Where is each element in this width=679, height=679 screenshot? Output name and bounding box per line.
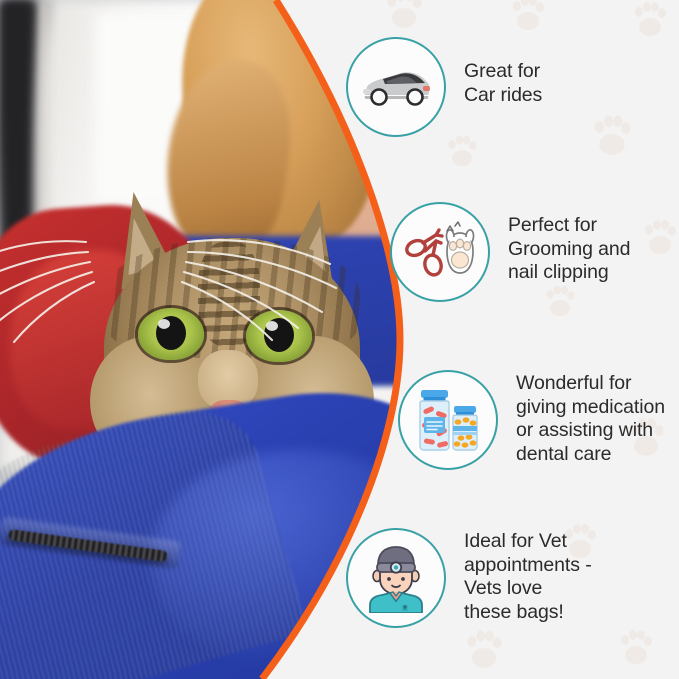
feature-item-grooming[interactable]: Perfect for Grooming and nail clipping [390,202,630,302]
feature-icon-circle [346,37,446,137]
feature-item-car-rides[interactable]: Great for Car rides [346,37,542,137]
medicine-bottles-icon [411,386,485,454]
feature-icon-circle [398,370,498,470]
car-icon [359,65,433,109]
nail-clippers-paw-icon [403,221,477,283]
feature-item-vet[interactable]: Ideal for Vet appointments - Vets love t… [346,528,592,628]
feature-list: Great for Car rides [332,0,679,679]
feature-text: Perfect for Grooming and nail clipping [508,214,630,285]
cat-right-eye [246,310,312,362]
feature-icon-circle [346,528,446,628]
product-image-canvas: Great for Car rides [0,0,679,679]
feature-icon-circle [390,202,490,302]
feature-text: Great for Car rides [464,60,542,107]
feature-text: Ideal for Vet appointments - Vets love t… [464,530,592,624]
veterinarian-icon [358,543,434,613]
feature-item-medication[interactable]: Wonderful for giving medication or assis… [398,370,665,470]
cat-left-eye [138,308,204,360]
feature-text: Wonderful for giving medication or assis… [516,372,665,466]
